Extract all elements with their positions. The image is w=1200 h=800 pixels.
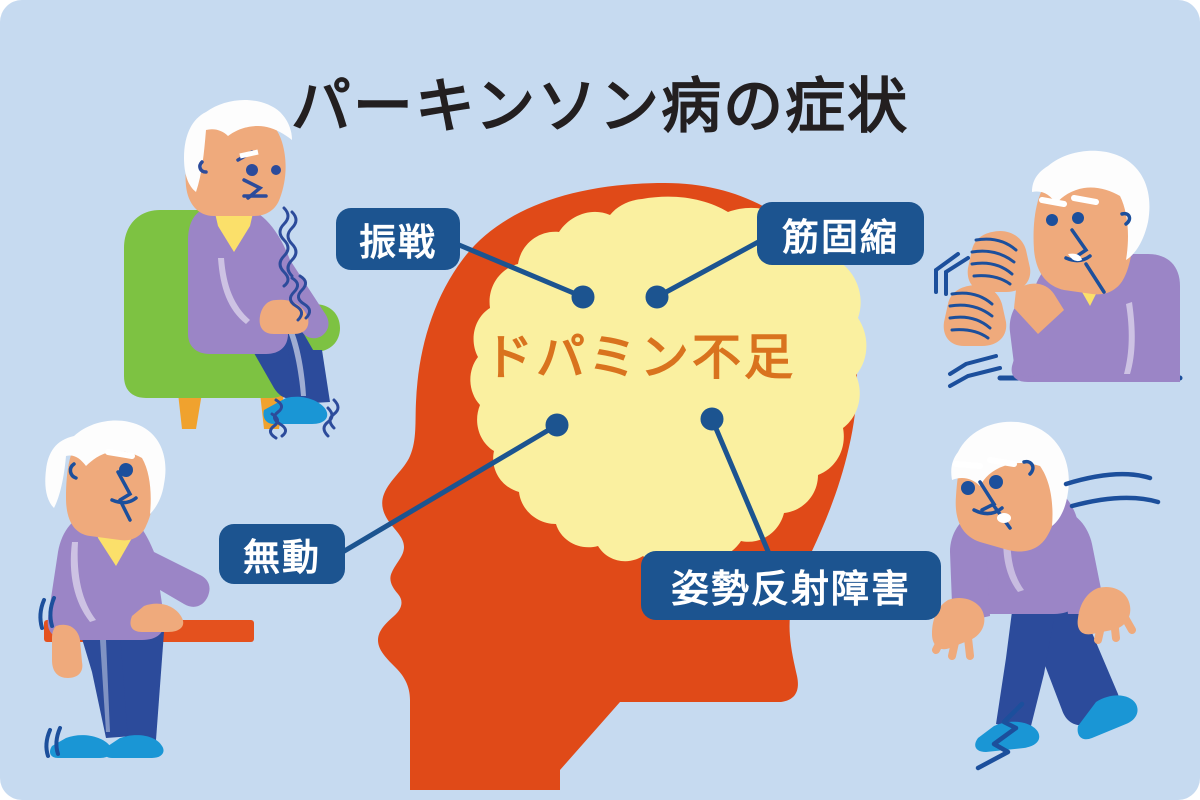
walk-brow	[108, 452, 132, 456]
rigid-eye-right	[1072, 212, 1084, 224]
label-postural-instability[interactable]: 姿勢反射障害	[641, 551, 941, 620]
leader-dot-rigidity	[648, 288, 666, 306]
label-rigidity[interactable]: 筋固縮	[757, 202, 924, 265]
fall-eye-right	[989, 475, 1003, 489]
seated-eye-left	[246, 164, 258, 176]
rigid-eye-left	[1046, 214, 1058, 226]
infographic-canvas: パーキンソン病の症状 ドパミン不足 振戦 筋固縮 無動 姿勢反射障害	[0, 0, 1200, 800]
seated-eye-right	[271, 165, 281, 175]
label-akinesia[interactable]: 無動	[219, 524, 345, 584]
leader-dot-akinesia	[548, 416, 566, 434]
leader-dot-postural	[703, 410, 721, 428]
page-title: パーキンソン病の症状	[0, 58, 1200, 145]
brain-center-text: ドパミン不足	[470, 318, 810, 389]
walk-eye	[119, 463, 133, 477]
leader-dot-tremor	[574, 288, 592, 306]
fall-mouth	[997, 513, 1011, 523]
fall-eye-left	[961, 481, 975, 495]
label-tremor[interactable]: 振戦	[336, 208, 460, 270]
